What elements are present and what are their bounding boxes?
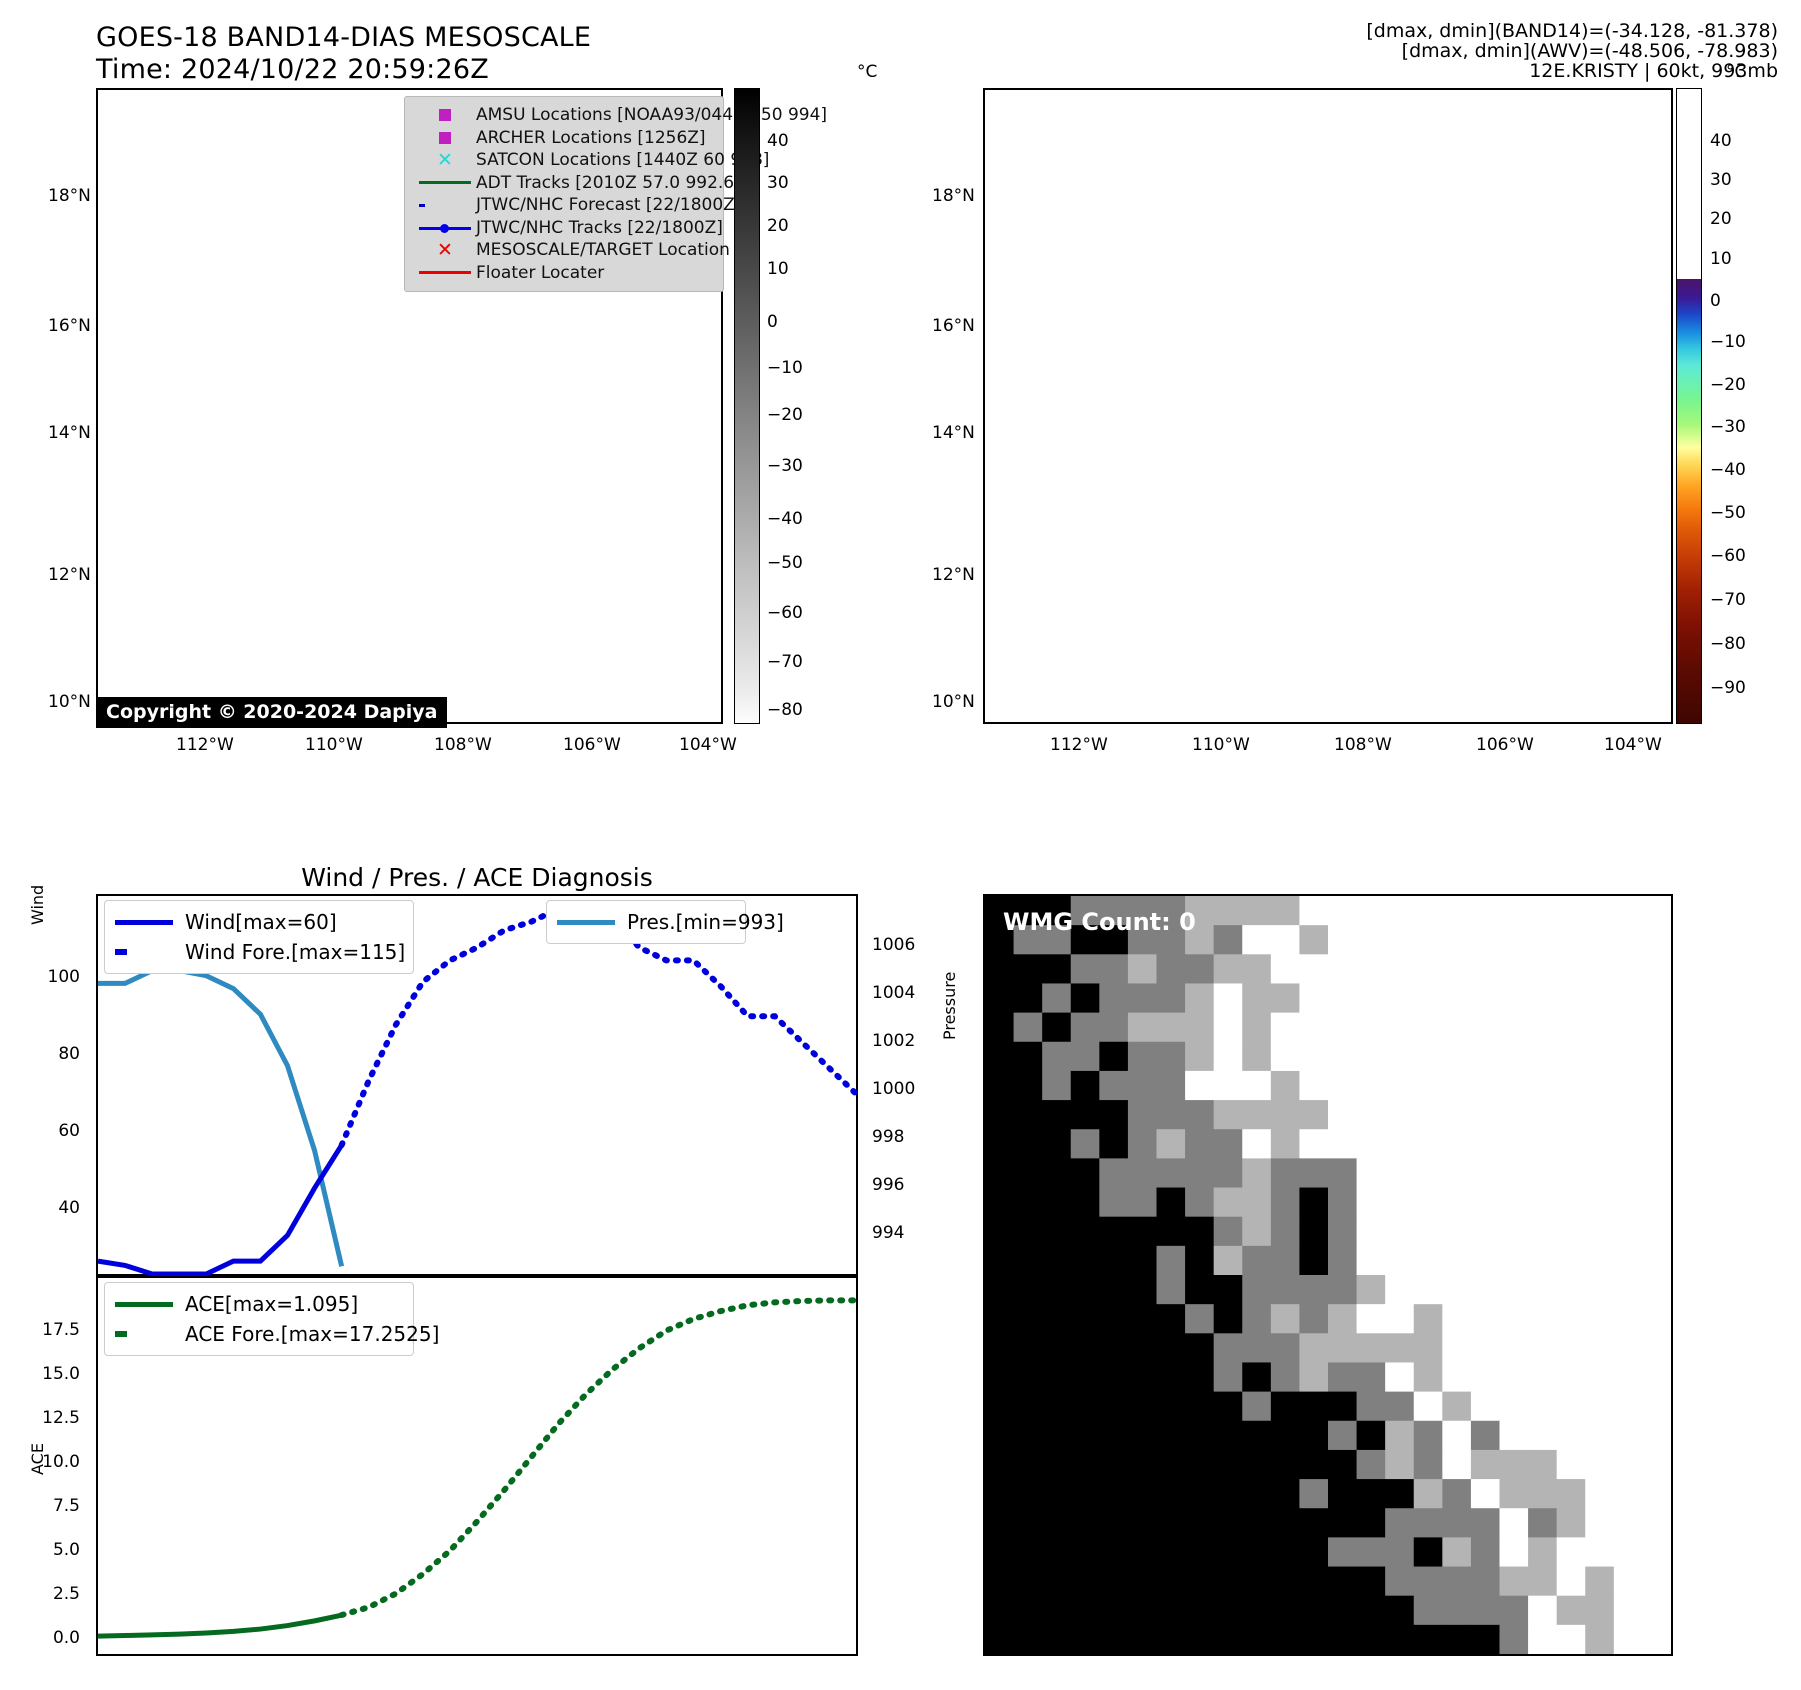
ir-cb-tick-7: −30: [767, 456, 803, 476]
wmg-cell: [1242, 1217, 1271, 1247]
legend-label-ace-forecast: ACE Fore.[max=17.2525]: [185, 1322, 439, 1346]
wmg-cell: [1099, 1129, 1128, 1159]
wmg-cell: [1328, 1625, 1357, 1654]
wmg-cell: [1042, 1158, 1071, 1188]
wmg-cell: [1585, 1362, 1614, 1392]
wmg-cell: [1157, 1450, 1186, 1480]
wmg-cell: [1528, 1217, 1557, 1247]
legend-item-ace: ACE[max=1.095]: [115, 1289, 403, 1319]
wmg-cell: [1271, 1508, 1300, 1538]
wmg-cell: [1157, 1071, 1186, 1101]
wmg-cell: [1528, 1013, 1557, 1043]
wmg-cell: [1414, 925, 1443, 955]
wmg-cell: [1442, 1537, 1471, 1567]
wmg-cell: [1442, 1129, 1471, 1159]
legend-label-tracks: JTWC/NHC Tracks [22/1800Z]: [476, 218, 723, 238]
wmg-cell: [1385, 1625, 1414, 1654]
wmg-cell: [1385, 1421, 1414, 1451]
wmg-cell: [1014, 1596, 1043, 1626]
wmg-cell: [1414, 1450, 1443, 1480]
wmg-cell: [1299, 1188, 1328, 1218]
wmg-cell: [1042, 1246, 1071, 1276]
wmg-cell: [1214, 1508, 1243, 1538]
wmg-cell: [1442, 983, 1471, 1013]
wmg-cell: [1614, 1333, 1643, 1363]
legend-label-wind: Wind[max=60]: [185, 910, 337, 934]
wmg-cell: [1214, 1042, 1243, 1072]
legend-item-forecast: JTWC/NHC Forecast [22/1800Z]: [414, 194, 714, 217]
wmg-cell: [1099, 1479, 1128, 1509]
wmg-cell: [1557, 1333, 1586, 1363]
ir-lon-tick-112W: 112°W: [176, 735, 234, 755]
wmg-cell: [1185, 1479, 1214, 1509]
wmg-cell: [1042, 1042, 1071, 1072]
wmg-cell: [1299, 1304, 1328, 1334]
adt-line-icon: [414, 181, 476, 184]
wmg-cell: [1242, 896, 1271, 926]
wmg-cell: [1157, 1013, 1186, 1043]
wmg-cell: [1042, 1479, 1071, 1509]
wmg-cell: [1299, 1158, 1328, 1188]
wmg-cell: [1271, 1537, 1300, 1567]
wmg-cell: [985, 1188, 1014, 1218]
wmg-cell: [1614, 1246, 1643, 1276]
wmg-cell: [1442, 1188, 1471, 1218]
wmg-cell: [1128, 1217, 1157, 1247]
wmg-cell: [1014, 1188, 1043, 1218]
wmg-cell: [1528, 1421, 1557, 1451]
wmg-cell: [1528, 1362, 1557, 1392]
wmg-cell: [1471, 1188, 1500, 1218]
wmg-cell: [1500, 1362, 1529, 1392]
wmg-cell: [1414, 1013, 1443, 1043]
wmg-cell: [1271, 1304, 1300, 1334]
enhanced-ir-map[interactable]: [983, 88, 1673, 724]
wmg-cell: [1328, 1392, 1357, 1422]
wmg-cell: [1614, 1567, 1643, 1597]
ehc-colorbar-unit: °C: [1726, 62, 1746, 82]
legend-label-adt: ADT Tracks [2010Z 57.0 992.6]: [476, 173, 741, 193]
wmg-cell: [1099, 1450, 1128, 1480]
wmg-cell: [1442, 954, 1471, 984]
wmg-cell: [1128, 1275, 1157, 1305]
wmg-cell: [1585, 1246, 1614, 1276]
wmg-cell: [1557, 1013, 1586, 1043]
wmg-cell: [1299, 1450, 1328, 1480]
wmg-cell: [1271, 1188, 1300, 1218]
wmg-cell: [1128, 1304, 1157, 1334]
wmg-cell: [1557, 1479, 1586, 1509]
wmg-cell: [1614, 1304, 1643, 1334]
wmg-cell: [1014, 1013, 1043, 1043]
wmg-cell: [1357, 1071, 1386, 1101]
wmg-cell: [1071, 1275, 1100, 1305]
wmg-cell: [1500, 1129, 1529, 1159]
wmg-cell: [1414, 954, 1443, 984]
wmg-cell: [1328, 1275, 1357, 1305]
wmg-cell: [1642, 954, 1671, 984]
wmg-cell: [1642, 1508, 1671, 1538]
legend-label-ace: ACE[max=1.095]: [185, 1292, 358, 1316]
wmg-cell: [1557, 1421, 1586, 1451]
wmg-cell: [1042, 1625, 1071, 1654]
wmg-cell: [1528, 1129, 1557, 1159]
wmg-cell: [1271, 1158, 1300, 1188]
wmg-cell: [1471, 896, 1500, 926]
wmg-cell: [1585, 954, 1614, 984]
wmg-cell: [1099, 1188, 1128, 1218]
wmg-cell: [1214, 1217, 1243, 1247]
wind-y-axis-label: Wind: [28, 885, 47, 925]
wmg-cell: [1071, 1100, 1100, 1130]
wmg-cell: [1328, 983, 1357, 1013]
wmg-cell: [1214, 1362, 1243, 1392]
wmg-cell: [1071, 1071, 1100, 1101]
archer-location-marker: [548, 396, 561, 409]
wmg-cell: [1585, 1217, 1614, 1247]
wmg-cell: [1128, 1537, 1157, 1567]
wmg-cell: [1414, 1129, 1443, 1159]
wmg-cell: [1071, 1304, 1100, 1334]
wmg-cell: [1271, 1071, 1300, 1101]
wmg-cell: [1614, 1479, 1643, 1509]
ace-chart[interactable]: ACE[max=1.095] ACE Fore.[max=17.2525]: [96, 1276, 858, 1656]
page-title-line1: GOES-18 BAND14-DIAS MESOSCALE: [96, 22, 591, 53]
wmg-cell: [1414, 1304, 1443, 1334]
wmg-cell: [1157, 1625, 1186, 1654]
legend-item-mesoscale: ✕ MESOSCALE/TARGET Location: [414, 239, 714, 262]
wmg-cell: [1299, 1071, 1328, 1101]
wmg-cell: [1157, 1596, 1186, 1626]
wmg-cell: [1014, 1275, 1043, 1305]
wmg-cell: [1299, 1013, 1328, 1043]
wmg-cell: [1271, 1246, 1300, 1276]
wmg-cell: [1528, 1246, 1557, 1276]
wmg-cell: [1357, 1537, 1386, 1567]
wmg-cell: [1500, 1479, 1529, 1509]
wmg-cell: [1271, 1129, 1300, 1159]
dashboard-root: GOES-18 BAND14-DIAS MESOSCALE Time: 2024…: [0, 0, 1801, 1690]
wmg-cell: [1157, 1304, 1186, 1334]
wmg-cell: [1071, 1013, 1100, 1043]
wmg-cell: [1299, 1567, 1328, 1597]
wmg-cell: [1042, 1450, 1071, 1480]
wmg-cell: [985, 983, 1014, 1013]
wmg-cell: [1642, 1596, 1671, 1626]
wmg-cell: [1385, 1071, 1414, 1101]
wmg-cell: [1414, 1188, 1443, 1218]
wmg-cell: [1071, 1042, 1100, 1072]
wmg-cell: [1585, 1100, 1614, 1130]
amsu-location-marker: [706, 406, 719, 419]
wmg-cell: [1014, 1333, 1043, 1363]
wmg-cell: [1500, 925, 1529, 955]
wmg-cell: [1299, 896, 1328, 926]
wmg-cell: [1128, 1479, 1157, 1509]
wmg-cell: [985, 1042, 1014, 1072]
wmg-cell: [1185, 1362, 1214, 1392]
wmg-cell: [1471, 1596, 1500, 1626]
wmg-cell: [1357, 1042, 1386, 1072]
wmg-cell: [1528, 1158, 1557, 1188]
wmg-cell: [1071, 1333, 1100, 1363]
wmg-cell: [1099, 1042, 1128, 1072]
wmg-cell: [1585, 1275, 1614, 1305]
wmg-cell: [1242, 925, 1271, 955]
wmg-cell: [1414, 1567, 1443, 1597]
ace-ytick-5: 5.0: [20, 1540, 80, 1560]
wmg-cell: [1557, 1158, 1586, 1188]
wmg-cell: [1271, 1567, 1300, 1597]
wmg-cell: [1585, 1479, 1614, 1509]
ace-ytick-6: 2.5: [20, 1584, 80, 1604]
wmg-cell: [1500, 1392, 1529, 1422]
ir-lat-tick-10N: 10°N: [48, 692, 91, 712]
mesoscale-target-x: ✕: [478, 407, 496, 432]
wmg-cell: [1585, 1129, 1614, 1159]
wmg-cell: [1642, 896, 1671, 926]
wmg-cell: [1299, 1392, 1328, 1422]
wmg-cell: [1642, 1042, 1671, 1072]
wmg-cell: [1614, 1392, 1643, 1422]
floater-line-icon: [414, 271, 476, 274]
wmg-cell: [1614, 983, 1643, 1013]
wmg-cell: [1099, 1625, 1128, 1654]
wmg-cell: [1642, 1246, 1671, 1276]
wmg-cell: [1185, 1013, 1214, 1043]
ir-cb-tick-1: 30: [767, 173, 789, 193]
wmg-cell: [1528, 1537, 1557, 1567]
wmg-cell: [1014, 1158, 1043, 1188]
wmg-cell: [1585, 983, 1614, 1013]
pres-ytick-2: 1002: [872, 1031, 915, 1051]
wmg-cell: [1128, 1567, 1157, 1597]
wmg-panel[interactable]: [983, 894, 1673, 1656]
legend-item-wind-forecast: Wind Fore.[max=115]: [115, 937, 403, 967]
ir-map-legend: AMSU Locations [NOAA93/0440Z 50 994] ARC…: [404, 96, 724, 292]
wmg-cell: [1328, 896, 1357, 926]
wmg-cell: [1642, 983, 1671, 1013]
wmg-cell: [1214, 1304, 1243, 1334]
legend-item-satcon: ✕ SATCON Locations [1440Z 60 998]: [414, 149, 714, 172]
ehc-cb-tick-9: −50: [1710, 503, 1746, 523]
ehc-lat-tick-10N: 10°N: [932, 692, 975, 712]
wmg-cell: [1299, 1246, 1328, 1276]
wmg-cell: [1099, 1392, 1128, 1422]
wmg-cell: [1414, 1625, 1443, 1654]
wmg-cell: [1099, 983, 1128, 1013]
wind-forecast-dotted-icon: [115, 949, 185, 955]
wmg-cell: [1442, 925, 1471, 955]
wmg-cell: [1471, 1392, 1500, 1422]
ir-colorbar: [734, 88, 760, 724]
wmg-cell: [1414, 1596, 1443, 1626]
wmg-cell: [1357, 1362, 1386, 1392]
wmg-cell: [1185, 983, 1214, 1013]
wmg-cell: [1642, 1013, 1671, 1043]
tracks-line-marker-icon: [414, 223, 476, 233]
copyright-badge: Copyright © 2020-2024 Dapiya: [96, 697, 447, 728]
wmg-cell: [1500, 954, 1529, 984]
wmg-cell: [985, 1625, 1014, 1654]
wmg-cell: [1585, 1304, 1614, 1334]
wmg-cell: [1014, 1479, 1043, 1509]
ir-cb-tick-11: −70: [767, 652, 803, 672]
wmg-cell: [1385, 1537, 1414, 1567]
wmg-cell: [1071, 1537, 1100, 1567]
wmg-cell: [1214, 1071, 1243, 1101]
wmg-cell: [985, 1304, 1014, 1334]
wmg-cell: [985, 1158, 1014, 1188]
wmg-cell: [1357, 1567, 1386, 1597]
wmg-cell: [1585, 1567, 1614, 1597]
wmg-cell: [1414, 1392, 1443, 1422]
wmg-cell: [1414, 1275, 1443, 1305]
wmg-cell: [1385, 1479, 1414, 1509]
wmg-cell: [1014, 1217, 1043, 1247]
wmg-cell: [1242, 1567, 1271, 1597]
legend-item-tracks: JTWC/NHC Tracks [22/1800Z]: [414, 217, 714, 240]
wmg-cell: [1357, 1129, 1386, 1159]
wmg-cell: [1071, 954, 1100, 984]
wmg-cell: [1042, 1596, 1071, 1626]
wmg-cell: [1642, 1333, 1671, 1363]
wmg-cell: [1157, 1042, 1186, 1072]
chart-title: Wind / Pres. / ACE Diagnosis: [96, 863, 858, 892]
wmg-cell: [1042, 1217, 1071, 1247]
wmg-cell: [1099, 1217, 1128, 1247]
wmg-cell: [1528, 1450, 1557, 1480]
wmg-cell: [1442, 1158, 1471, 1188]
wmg-cell: [1642, 1188, 1671, 1218]
wmg-cell: [1614, 1217, 1643, 1247]
wmg-cell: [1642, 1479, 1671, 1509]
wmg-cell: [1271, 1217, 1300, 1247]
wmg-cell: [1585, 1042, 1614, 1072]
wmg-cell: [1299, 1100, 1328, 1130]
wmg-cell: [1357, 954, 1386, 984]
legend-item-ace-forecast: ACE Fore.[max=17.2525]: [115, 1319, 403, 1349]
wmg-cell: [1271, 1421, 1300, 1451]
wmg-cell: [1414, 1537, 1443, 1567]
wmg-cell: [1185, 1508, 1214, 1538]
wmg-cell: [1157, 1508, 1186, 1538]
wmg-cell: [1185, 1567, 1214, 1597]
legend-label-satcon: SATCON Locations [1440Z 60 998]: [476, 150, 769, 170]
ir-lon-tick-108W: 108°W: [434, 735, 492, 755]
wmg-cell: [1528, 983, 1557, 1013]
wmg-cell: [1471, 1421, 1500, 1451]
wmg-cell: [1271, 1275, 1300, 1305]
wmg-cell: [1557, 1042, 1586, 1072]
wmg-cell: [1471, 1129, 1500, 1159]
wmg-cell: [1471, 1158, 1500, 1188]
wmg-cell: [1157, 1217, 1186, 1247]
wmg-cell: [1014, 1042, 1043, 1072]
wmg-cell: [1500, 1450, 1529, 1480]
ir-lon-tick-104W: 104°W: [679, 735, 737, 755]
wmg-cell: [1014, 1246, 1043, 1276]
wmg-cell: [1157, 1421, 1186, 1451]
ehc-cb-tick-1: 30: [1710, 170, 1732, 190]
wmg-cell: [1442, 1392, 1471, 1422]
wmg-cell: [1299, 1333, 1328, 1363]
ehc-lon-tick-112W: 112°W: [1050, 735, 1108, 755]
ace-ytick-4: 7.5: [20, 1496, 80, 1516]
wmg-cell: [1328, 1333, 1357, 1363]
wmg-cell: [1128, 983, 1157, 1013]
wmg-cell: [1185, 1042, 1214, 1072]
wmg-cell: [1299, 1508, 1328, 1538]
wmg-cell: [1271, 1100, 1300, 1130]
wmg-cell: [1185, 1537, 1214, 1567]
wmg-cell: [1414, 1071, 1443, 1101]
wmg-cell: [1642, 1392, 1671, 1422]
wmg-cell: [1014, 1100, 1043, 1130]
wmg-cell: [1385, 1392, 1414, 1422]
wmg-cell: [1500, 896, 1529, 926]
wmg-cell: [1099, 954, 1128, 984]
wmg-cell: [1642, 1129, 1671, 1159]
wmg-cell: [1614, 1158, 1643, 1188]
wmg-cell: [1271, 896, 1300, 926]
ace-ytick-7: 0.0: [20, 1628, 80, 1648]
wind-pressure-chart[interactable]: Wind[max=60] Wind Fore.[max=115] Pres.[m…: [96, 894, 858, 1276]
wmg-cell: [1299, 1362, 1328, 1392]
ehc-lat-lon-grid: [983, 88, 1673, 724]
wmg-cell: [1328, 1042, 1357, 1072]
wmg-cell: [985, 1392, 1014, 1422]
pres-ytick-6: 994: [872, 1223, 904, 1243]
wmg-cell: [1042, 954, 1071, 984]
wmg-cell: [1128, 1100, 1157, 1130]
wmg-cell: [1528, 1596, 1557, 1626]
wmg-cell: [1357, 1188, 1386, 1218]
ehc-lat-tick-18N: 18°N: [932, 186, 975, 206]
wmg-cell: [1242, 1625, 1271, 1654]
wmg-cell: [1185, 1188, 1214, 1218]
wmg-cell: [1299, 1042, 1328, 1072]
wmg-cell: [1585, 1450, 1614, 1480]
wmg-cell: [1128, 1013, 1157, 1043]
wmg-cell: [1528, 1304, 1557, 1334]
wmg-cell: [1271, 1596, 1300, 1626]
wmg-cell: [1128, 1508, 1157, 1538]
wmg-cell: [1642, 1158, 1671, 1188]
wmg-cell: [1357, 1421, 1386, 1451]
wmg-cell: [1528, 1567, 1557, 1597]
wmg-cell: [1271, 954, 1300, 984]
ir-lon-tick-110W: 110°W: [305, 735, 363, 755]
wmg-cell: [1014, 1450, 1043, 1480]
wmg-cell: [1071, 1362, 1100, 1392]
wmg-cell: [1185, 1275, 1214, 1305]
wmg-cell: [1528, 1100, 1557, 1130]
wmg-cell: [1357, 1304, 1386, 1334]
wmg-cell: [1271, 1042, 1300, 1072]
ehc-cb-tick-7: −30: [1710, 417, 1746, 437]
wmg-cell: [1242, 1450, 1271, 1480]
wmg-cell: [1442, 1100, 1471, 1130]
wmg-cell: [1385, 1567, 1414, 1597]
wmg-cell: [1471, 1625, 1500, 1654]
wmg-cell: [985, 1596, 1014, 1626]
wmg-cell: [1099, 1567, 1128, 1597]
wmg-cell: [1214, 1158, 1243, 1188]
forecast-dotted-icon: [414, 204, 476, 207]
wmg-cell: [985, 1246, 1014, 1276]
wmg-cell: [1357, 1275, 1386, 1305]
